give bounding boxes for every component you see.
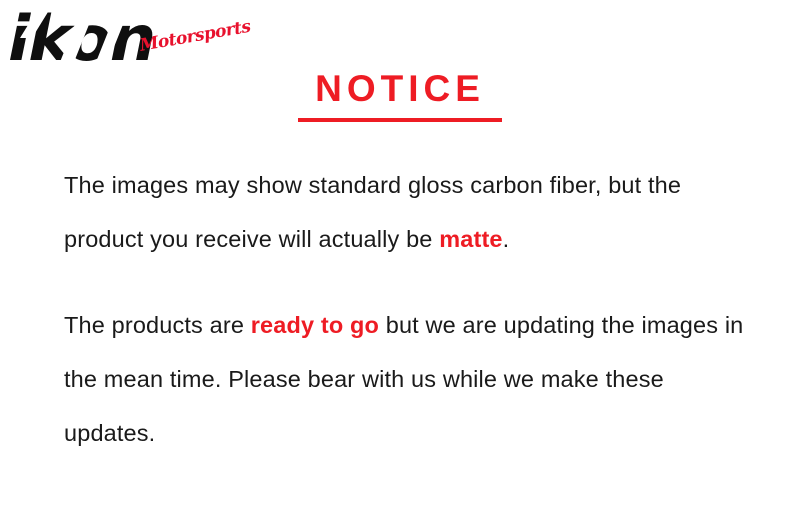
notice-paragraph-1-segment-0: The images may show standard gloss carbo… <box>64 172 681 252</box>
notice-body: The images may show standard gloss carbo… <box>64 158 754 460</box>
notice-banner: ikon Motorsports NOTICE The images may s… <box>0 0 800 510</box>
logo-wordmark: ikon <box>8 8 154 70</box>
notice-title-underline <box>298 118 502 122</box>
logo-subtext: Motorsports <box>138 17 252 56</box>
notice-paragraph-1-segment-1: matte <box>439 226 502 252</box>
notice-title: NOTICE <box>0 68 800 110</box>
notice-paragraph-2-segment-0: The products are <box>64 312 251 338</box>
notice-paragraph-2-segment-1: ready to go <box>251 312 379 338</box>
notice-paragraph-1-segment-2: . <box>503 226 510 252</box>
notice-paragraph-1: The images may show standard gloss carbo… <box>64 158 754 266</box>
notice-paragraph-2: The products are ready to go but we are … <box>64 298 754 460</box>
